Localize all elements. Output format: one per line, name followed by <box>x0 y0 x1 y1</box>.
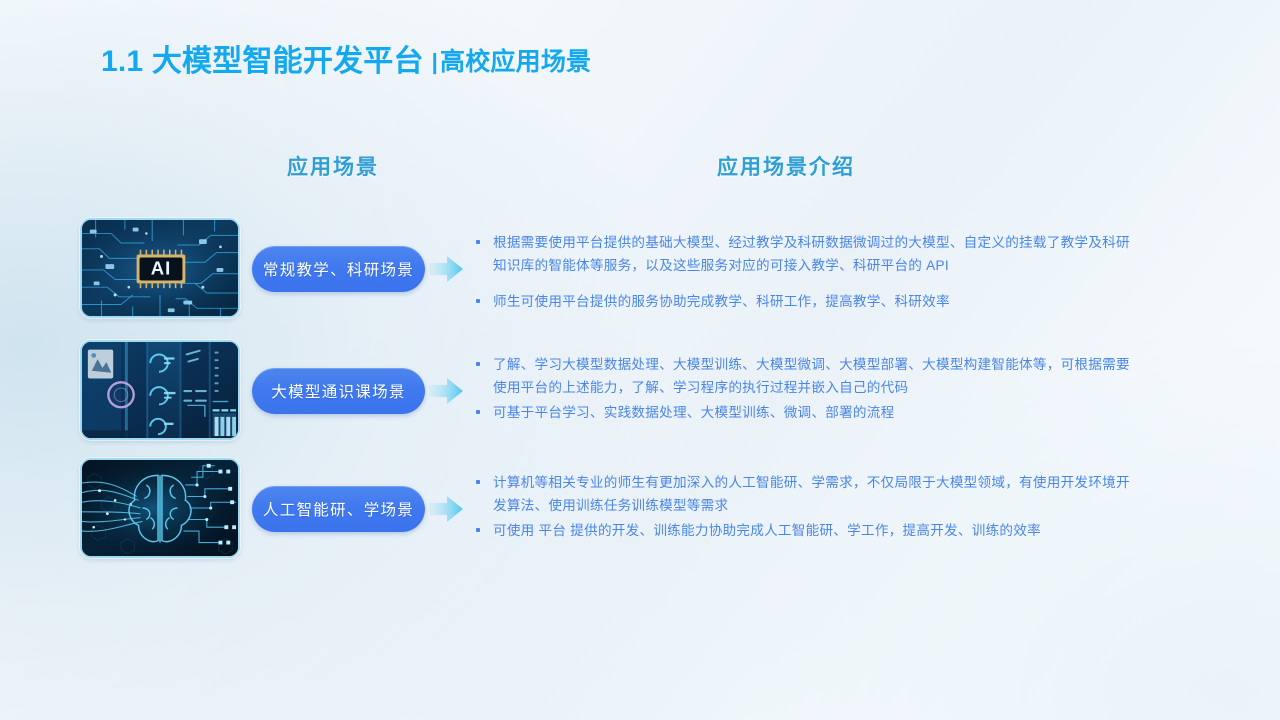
svg-text:AI: AI <box>151 258 171 279</box>
arrow-right-glyph <box>428 376 464 406</box>
column-header-intro: 应用场景介绍 <box>717 151 855 181</box>
bullet-item: 了解、学习大模型数据处理、大模型训练、大模型微调、大模型部署、大模型构建智能体等… <box>474 353 1134 399</box>
page-title-number: 1.1 <box>101 45 143 78</box>
page-title-sub: 高校应用场景 <box>440 48 591 76</box>
page-title: 1.1 大模型智能开发平台|高校应用场景 <box>101 42 591 84</box>
scenario-bullets-1: 了解、学习大模型数据处理、大模型训练、大模型微调、大模型部署、大模型构建智能体等… <box>474 353 1134 424</box>
thumbnail-ai-brain <box>80 458 240 558</box>
scenario-pill-0[interactable]: 常规教学、科研场景 <box>252 246 425 292</box>
scenario-bullets-2: 计算机等相关专业的师生有更加深入的人工智能研、学需求，不仅局限于大模型领域，有使… <box>474 471 1134 542</box>
scenario-row: AI 常规教学、科研场景 根据需要使用平台提供的基础大模型、经过教学及科研数据微… <box>0 218 1280 320</box>
scenario-pill-label: 常规教学、科研场景 <box>263 258 414 280</box>
scenario-row: 大模型通识课场景 了解、学习大模型数据处理、大模型训练、大模型微调、大模型部署、… <box>0 340 1280 442</box>
scenario-bullets-0: 根据需要使用平台提供的基础大模型、经过教学及科研数据微调过的大模型、自定义的挂载… <box>474 231 1134 313</box>
arrow-right-glyph <box>428 254 464 284</box>
scenario-pill-label: 人工智能研、学场景 <box>263 498 414 520</box>
data-dashboard-hud-icon <box>82 342 238 438</box>
page-title-separator: | <box>424 49 440 74</box>
ai-chip-circuit-icon: AI <box>82 220 238 316</box>
bullet-item: 计算机等相关专业的师生有更加深入的人工智能研、学需求，不仅局限于大模型领域，有使… <box>474 471 1134 517</box>
scenario-pill-1[interactable]: 大模型通识课场景 <box>252 368 425 414</box>
bullet-item: 可使用 平台 提供的开发、训练能力协助完成人工智能研、学工作，提高开发、训练的效… <box>474 519 1134 542</box>
scenario-pill-2[interactable]: 人工智能研、学场景 <box>252 486 425 532</box>
thumbnail-ai-chip: AI <box>80 218 240 318</box>
bullet-item: 师生可使用平台提供的服务协助完成教学、科研工作，提高教学、科研效率 <box>474 290 1134 313</box>
arrow-right-icon <box>428 376 464 406</box>
arrow-right-icon <box>428 254 464 284</box>
arrow-right-icon <box>428 494 464 524</box>
thumbnail-data-dashboard <box>80 340 240 440</box>
arrow-right-glyph <box>428 494 464 524</box>
scenario-pill-label: 大模型通识课场景 <box>271 380 405 402</box>
column-header-scene: 应用场景 <box>287 151 379 181</box>
scenario-row: 人工智能研、学场景 计算机等相关专业的师生有更加深入的人工智能研、学需求，不仅局… <box>0 458 1280 560</box>
page-title-main: 大模型智能开发平台 <box>152 45 424 78</box>
bullet-item: 根据需要使用平台提供的基础大模型、经过教学及科研数据微调过的大模型、自定义的挂载… <box>474 231 1134 277</box>
bullet-item: 可基于平台学习、实践数据处理、大模型训练、微调、部署的流程 <box>474 401 1134 424</box>
ai-brain-circuit-icon <box>82 460 238 556</box>
